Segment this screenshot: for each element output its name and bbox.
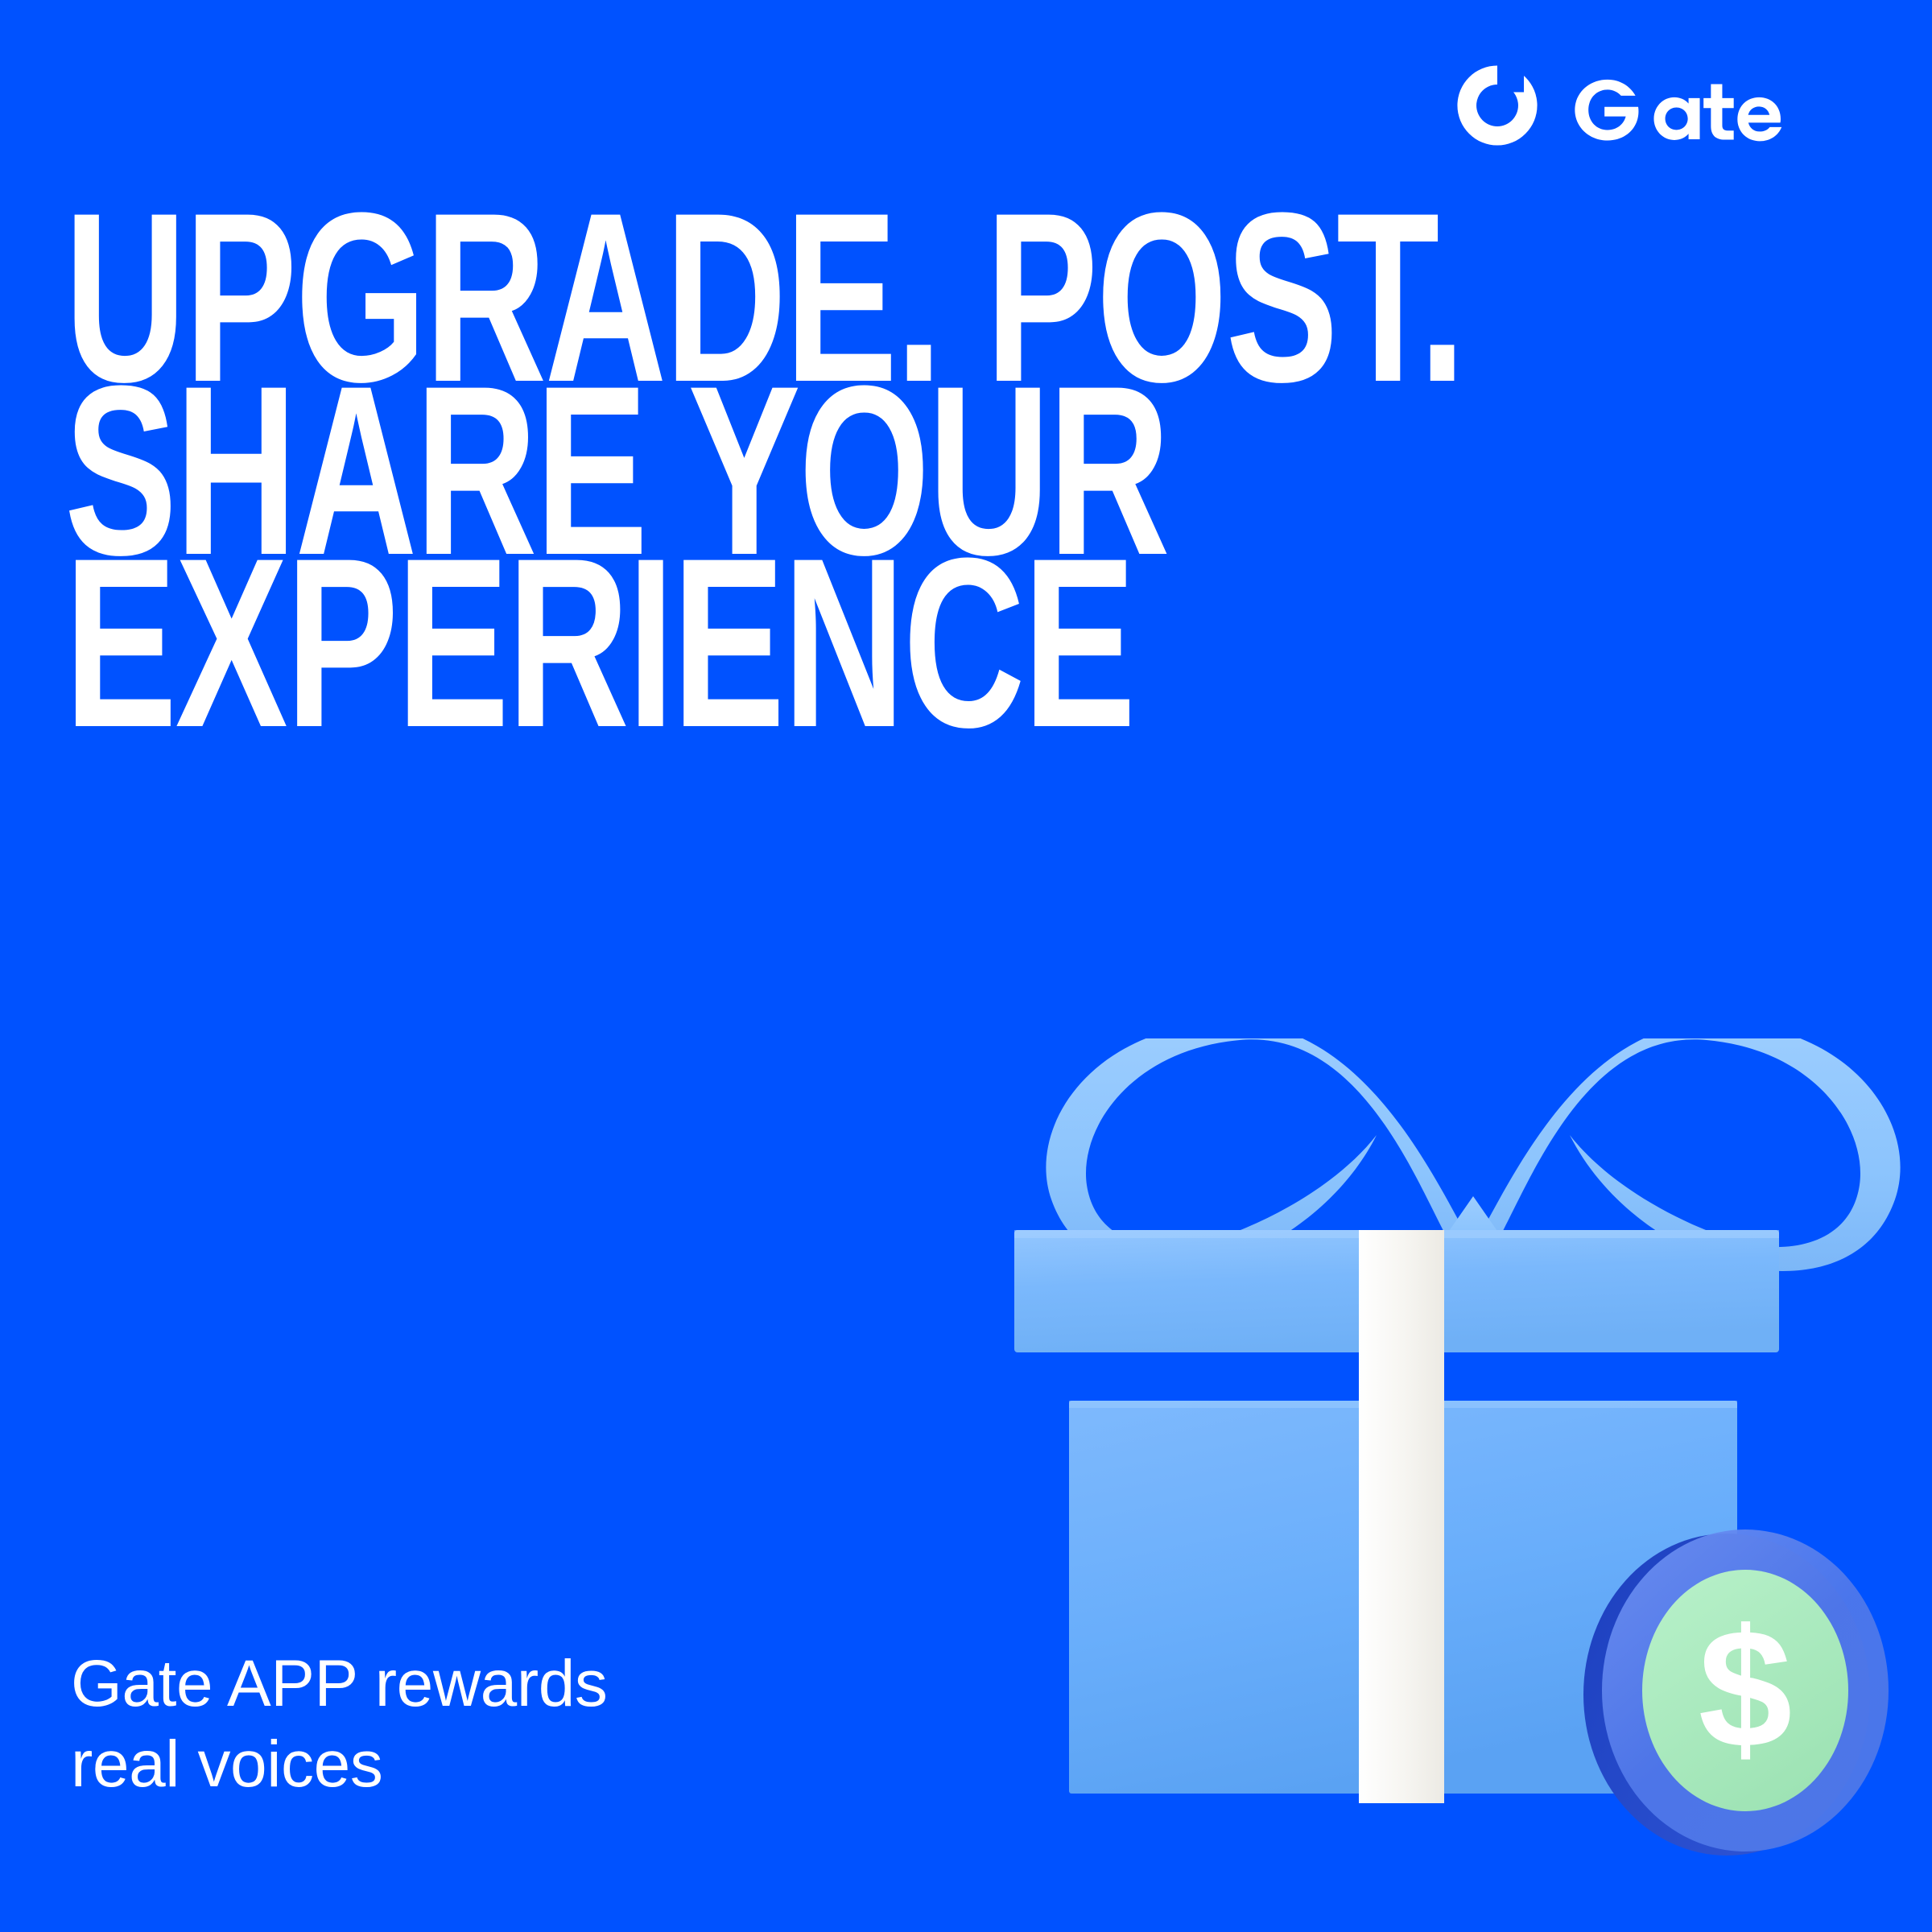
tagline: Gate APP rewards real voices xyxy=(71,1644,608,1805)
headline-line-3: EXPERIENCE xyxy=(64,556,1191,729)
promo-poster: UPGRADE. POST. SHARE YOUR EXPERIENCE Gat… xyxy=(0,0,1932,1932)
page-title: UPGRADE. POST. SHARE YOUR EXPERIENCE xyxy=(64,211,1674,729)
gate-wordmark xyxy=(1566,64,1861,147)
gift-ribbon xyxy=(1359,1230,1444,1803)
brand-lockup xyxy=(1450,58,1861,153)
gift-box-illustration: $ xyxy=(998,1038,1932,1932)
dollar-symbol: $ xyxy=(1699,1594,1793,1783)
dollar-coin-badge: $ xyxy=(1583,1529,1889,1856)
tagline-line-1: Gate APP rewards xyxy=(71,1644,608,1724)
tagline-line-2: real voices xyxy=(71,1724,608,1805)
gate-logo-mark-icon xyxy=(1450,58,1545,153)
